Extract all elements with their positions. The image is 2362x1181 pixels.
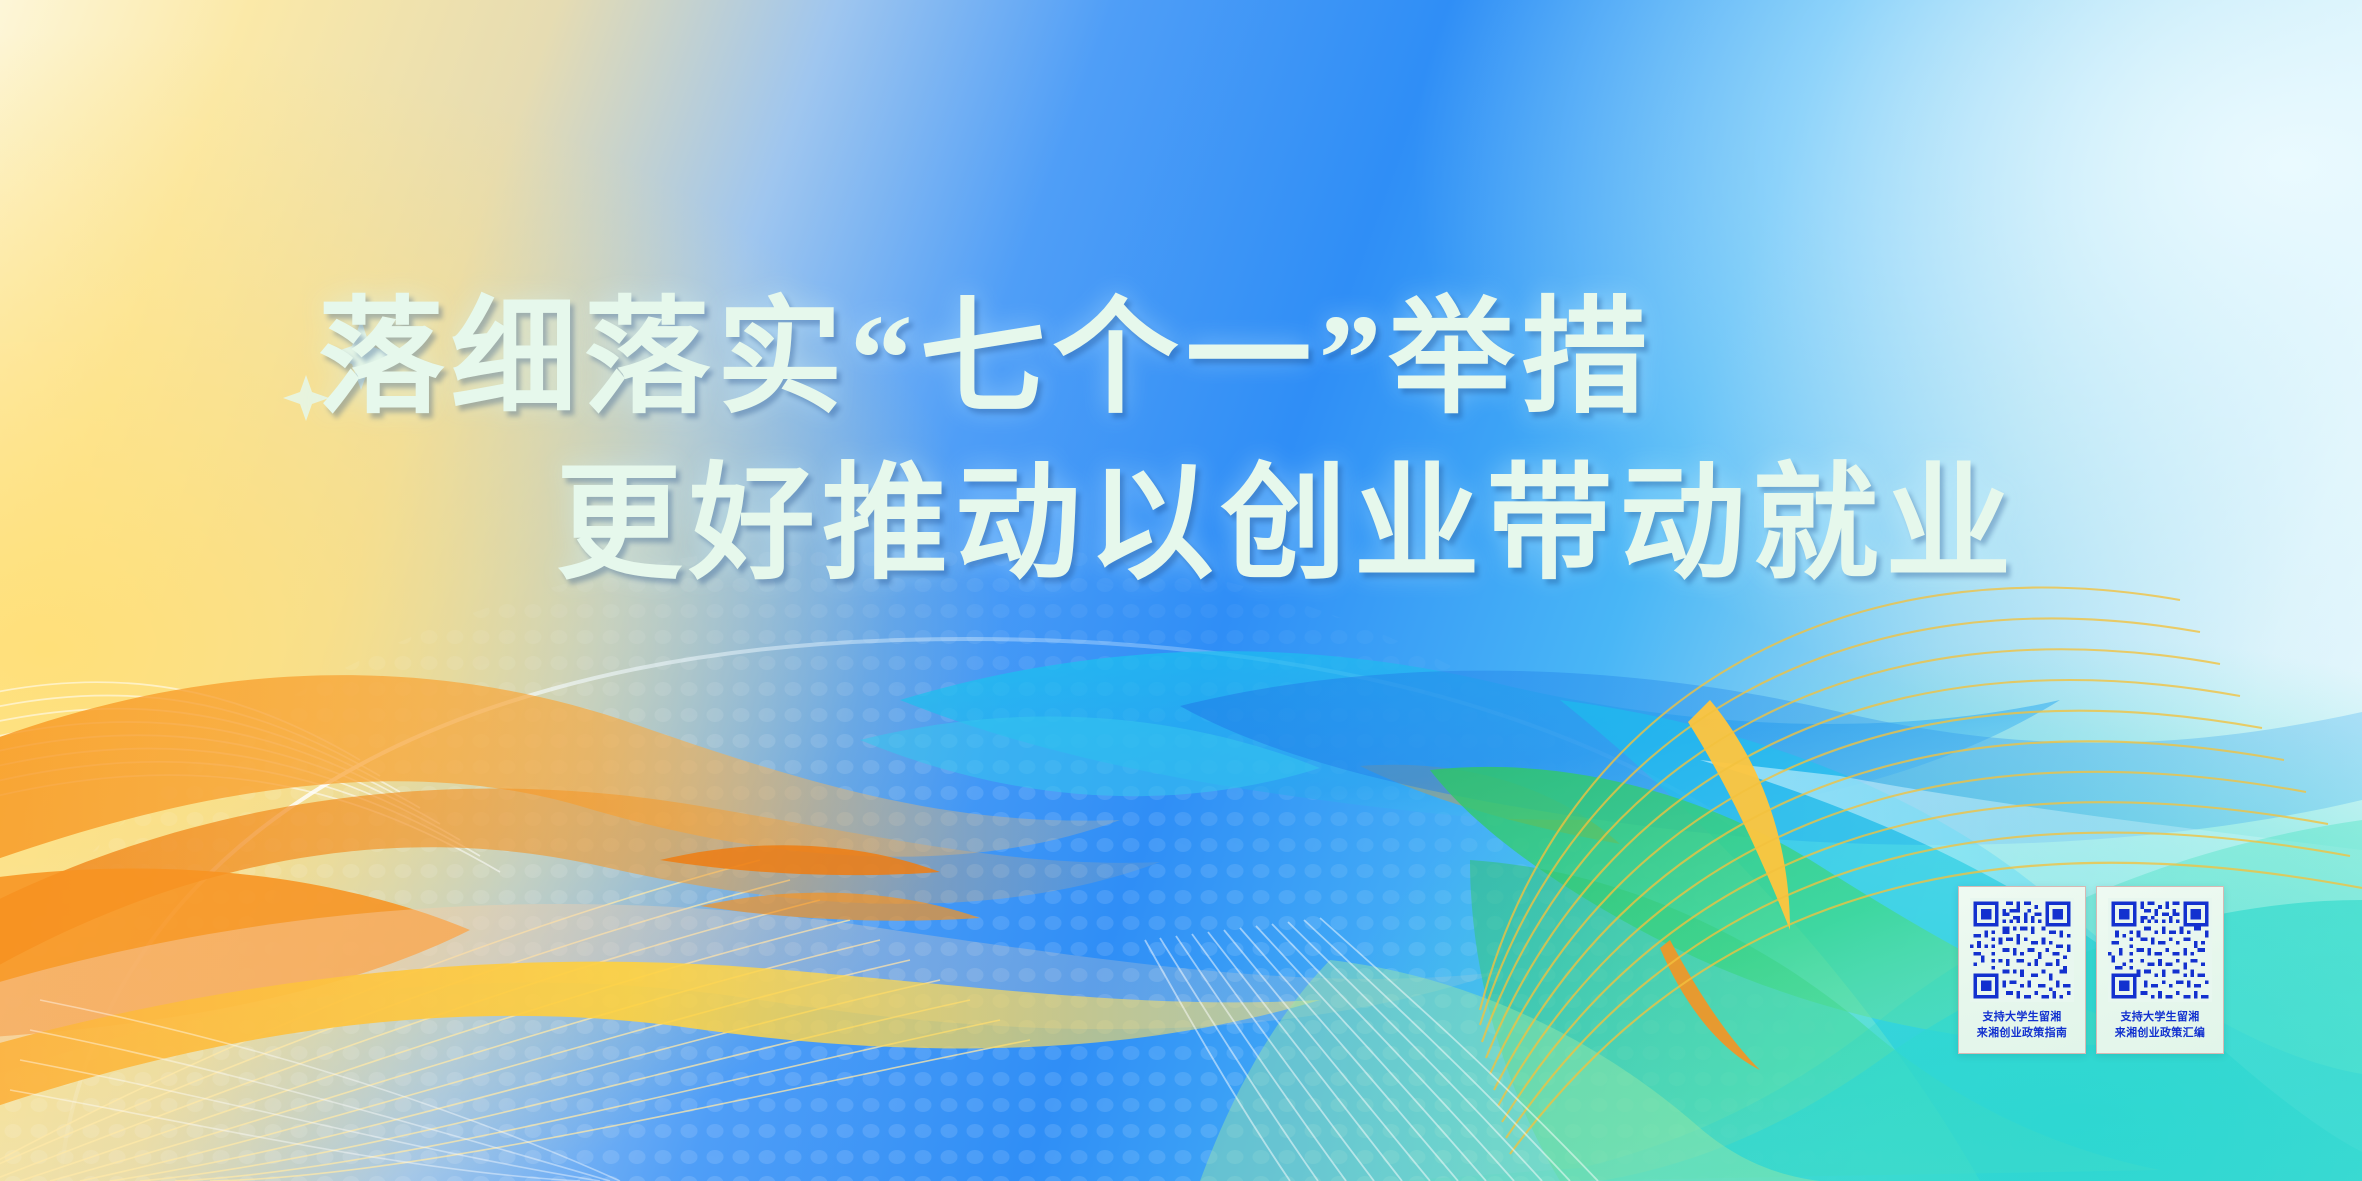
qr-caption-line-2: 来湘创业政策指南 [1977, 1025, 2067, 1041]
qr-caption-line-2: 来湘创业政策汇编 [2115, 1025, 2205, 1041]
qr-code-icon[interactable] [1970, 898, 2074, 1002]
qr-code-group: 支持大学生留湘 来湘创业政策指南 [1958, 886, 2224, 1054]
qr-caption-line-1: 支持大学生留湘 [1977, 1009, 2067, 1025]
promotional-banner: 落细落实“七个一”举措 更好推动以创业带动就业 [0, 0, 2362, 1181]
qr-card-policy-guide[interactable]: 支持大学生留湘 来湘创业政策指南 [1958, 886, 2086, 1054]
qr-caption: 支持大学生留湘 来湘创业政策指南 [1977, 1009, 2067, 1040]
qr-caption-line-1: 支持大学生留湘 [2115, 1009, 2205, 1025]
qr-code-icon[interactable] [2108, 898, 2212, 1002]
qr-caption: 支持大学生留湘 来湘创业政策汇编 [2115, 1009, 2205, 1040]
qr-card-policy-compilation[interactable]: 支持大学生留湘 来湘创业政策汇编 [2096, 886, 2224, 1054]
